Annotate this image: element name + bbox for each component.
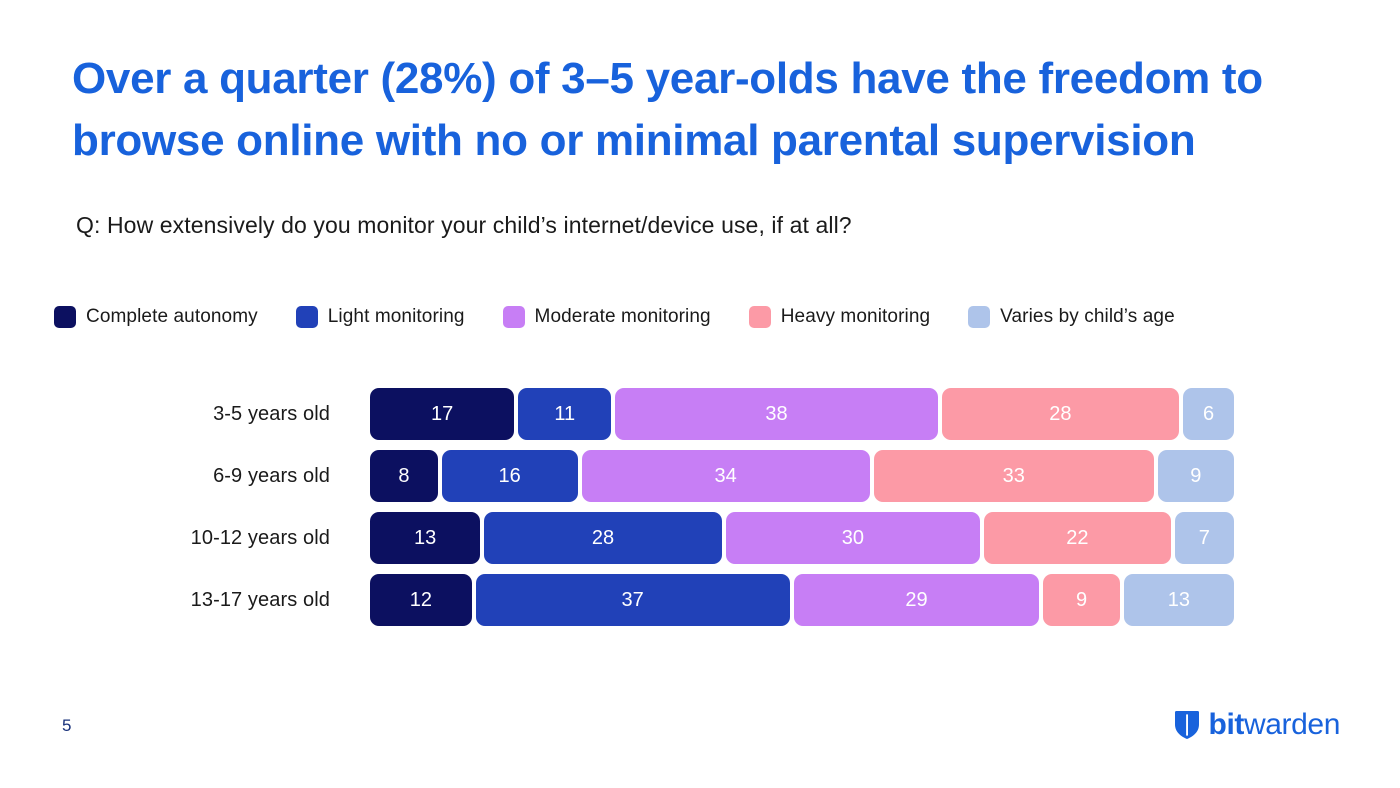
- bar-segment[interactable]: 33: [874, 450, 1154, 502]
- bar-row: 3-5 years old171138286: [0, 388, 1400, 440]
- legend-swatch-icon: [296, 306, 318, 328]
- legend-item-label: Moderate monitoring: [535, 306, 711, 328]
- bar-segment[interactable]: 9: [1043, 574, 1119, 626]
- page-title: Over a quarter (28%) of 3–5 year-olds ha…: [72, 48, 1312, 172]
- bitwarden-wordmark: bitwarden: [1209, 710, 1340, 740]
- bar-segment[interactable]: 22: [984, 512, 1171, 564]
- bar-track: 81634339: [370, 450, 1218, 502]
- bitwarden-logo: bitwarden: [1174, 708, 1340, 742]
- survey-question: Q: How extensively do you monitor your c…: [76, 208, 852, 242]
- bar-row: 6-9 years old81634339: [0, 450, 1400, 502]
- bar-segment[interactable]: 28: [942, 388, 1179, 440]
- bar-row-label: 6-9 years old: [0, 450, 330, 502]
- bar-segment[interactable]: 37: [476, 574, 790, 626]
- logo-text-bold: bit: [1209, 708, 1244, 741]
- page-number: 5: [62, 716, 71, 736]
- legend-item[interactable]: Light monitoring: [296, 306, 465, 328]
- bar-segment[interactable]: 16: [442, 450, 578, 502]
- bar-row-label: 13-17 years old: [0, 574, 330, 626]
- bar-segment[interactable]: 38: [615, 388, 937, 440]
- legend-item[interactable]: Heavy monitoring: [749, 306, 930, 328]
- bar-segment[interactable]: 13: [1124, 574, 1234, 626]
- legend-swatch-icon: [968, 306, 990, 328]
- legend-item-label: Varies by child’s age: [1000, 306, 1175, 328]
- bar-segment[interactable]: 13: [370, 512, 480, 564]
- bar-row-label: 3-5 years old: [0, 388, 330, 440]
- bar-segment[interactable]: 28: [484, 512, 721, 564]
- bar-segment[interactable]: 17: [370, 388, 514, 440]
- bar-segment[interactable]: 11: [518, 388, 611, 440]
- bar-track: 123729913: [370, 574, 1218, 626]
- bar-row-label: 10-12 years old: [0, 512, 330, 564]
- bitwarden-shield-icon: [1174, 710, 1200, 740]
- legend-item-label: Light monitoring: [328, 306, 465, 328]
- bar-segment[interactable]: 34: [582, 450, 870, 502]
- bar-segment[interactable]: 6: [1183, 388, 1234, 440]
- bar-segment[interactable]: 29: [794, 574, 1040, 626]
- bar-row: 13-17 years old123729913: [0, 574, 1400, 626]
- bar-track: 171138286: [370, 388, 1218, 440]
- bar-segment[interactable]: 30: [726, 512, 980, 564]
- logo-text-light: warden: [1244, 708, 1340, 741]
- bar-track: 132830227: [370, 512, 1218, 564]
- legend-swatch-icon: [54, 306, 76, 328]
- stacked-bar-chart: 3-5 years old1711382866-9 years old81634…: [0, 388, 1400, 636]
- bar-segment[interactable]: 12: [370, 574, 472, 626]
- legend-item-label: Complete autonomy: [86, 306, 258, 328]
- slide: Over a quarter (28%) of 3–5 year-olds ha…: [0, 0, 1400, 788]
- legend-swatch-icon: [749, 306, 771, 328]
- bar-segment[interactable]: 9: [1158, 450, 1234, 502]
- legend-item[interactable]: Moderate monitoring: [503, 306, 711, 328]
- bar-segment[interactable]: 7: [1175, 512, 1234, 564]
- legend-item-label: Heavy monitoring: [781, 306, 930, 328]
- legend-swatch-icon: [503, 306, 525, 328]
- bar-row: 10-12 years old132830227: [0, 512, 1400, 564]
- legend-item[interactable]: Complete autonomy: [54, 306, 258, 328]
- legend-item[interactable]: Varies by child’s age: [968, 306, 1175, 328]
- chart-legend: Complete autonomyLight monitoringModerat…: [54, 306, 1354, 328]
- bar-segment[interactable]: 8: [370, 450, 438, 502]
